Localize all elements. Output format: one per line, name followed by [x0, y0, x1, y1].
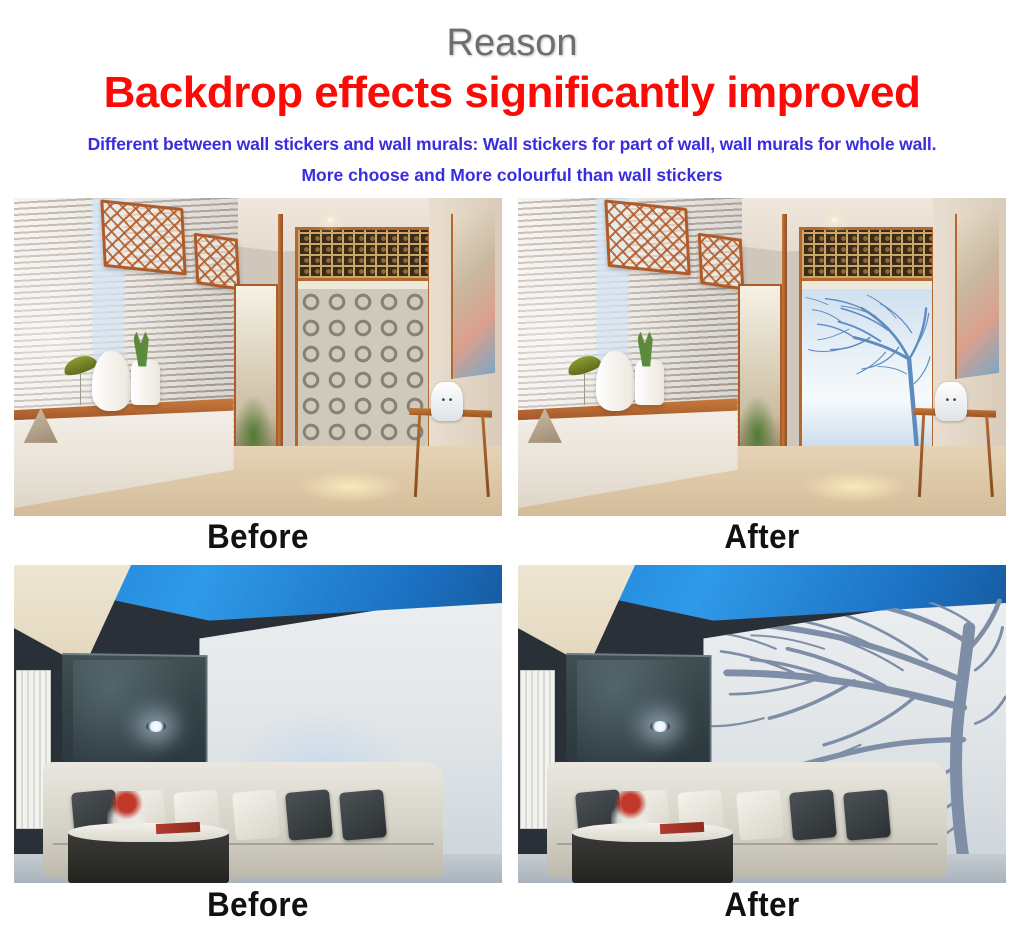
- living-room-before-photo: [14, 565, 502, 883]
- console-leg-left: [414, 415, 421, 497]
- promo-page: Reason Backdrop effects significantly im…: [0, 0, 1024, 944]
- coffee-table-tray: [572, 823, 733, 842]
- caption-living-after: After: [538, 886, 987, 925]
- small-white-vase: [131, 360, 160, 405]
- lattice-transom-screen: [295, 227, 432, 281]
- cushion-dark: [789, 789, 837, 840]
- page-title: Backdrop effects significantly improved: [0, 70, 1024, 116]
- hallway-before-photo: [14, 198, 502, 516]
- ceramic-figurine: [935, 382, 967, 420]
- wall-art: [451, 208, 495, 380]
- doorway-plant: [738, 395, 777, 446]
- wooden-post: [782, 214, 788, 468]
- large-white-vase: [596, 351, 635, 411]
- doorway-plant: [234, 395, 273, 446]
- lamp-stem: [80, 370, 81, 405]
- lattice-ornament-large-icon: [604, 200, 690, 276]
- ceramic-figurine: [431, 382, 463, 420]
- caption-hallway-after: After: [538, 518, 987, 557]
- subtitle-line-2: More choose and More colourful than wall…: [0, 165, 1024, 185]
- subtitle-line-1: Different between wall stickers and wall…: [0, 134, 1024, 154]
- hallway-after-scene: [518, 198, 1006, 516]
- cushion-dark: [285, 789, 333, 840]
- lattice-ornament-small-icon: [697, 233, 744, 291]
- wooden-post: [278, 214, 284, 468]
- flower-vase: [611, 791, 650, 826]
- console-leg-right: [985, 415, 994, 497]
- lamp-stem: [584, 370, 585, 405]
- hallway-after-photo: [518, 198, 1006, 516]
- living-room-after-scene: [518, 565, 1006, 883]
- cushion-light: [232, 789, 280, 840]
- small-white-vase: [635, 360, 664, 405]
- console-leg-left: [918, 415, 925, 497]
- cushion-dark: [339, 789, 387, 840]
- lattice-transom-screen: [799, 227, 936, 281]
- coffee-table-tray: [68, 823, 229, 842]
- ceiling-spotlight-icon: [650, 721, 670, 732]
- white-ceiling-corner: [14, 565, 131, 667]
- lattice-ornament-small-icon: [193, 233, 240, 291]
- cushion-light: [736, 789, 784, 840]
- living-room-after-photo: [518, 565, 1006, 883]
- cushion-dark: [843, 789, 891, 840]
- console-leg-right: [481, 415, 490, 497]
- console-table: [409, 408, 492, 497]
- console-table: [913, 408, 996, 497]
- caption-living-before: Before: [34, 886, 483, 925]
- living-room-before-scene: [14, 565, 502, 883]
- ceiling-spotlight-icon: [146, 721, 166, 732]
- white-ceiling-corner: [518, 565, 635, 667]
- caption-hallway-before: Before: [34, 518, 483, 557]
- wall-art: [955, 208, 999, 380]
- red-book: [659, 821, 703, 833]
- floor-light-reflection: [801, 471, 908, 503]
- large-white-vase: [92, 351, 131, 411]
- floor-light-reflection: [297, 471, 404, 503]
- eyebrow-text: Reason: [0, 24, 1024, 62]
- lattice-ornament-large-icon: [100, 200, 186, 276]
- red-book: [155, 821, 199, 833]
- flower-vase: [107, 791, 146, 826]
- comparison-grid: Before After Before After: [0, 198, 1024, 944]
- hallway-before-scene: [14, 198, 502, 516]
